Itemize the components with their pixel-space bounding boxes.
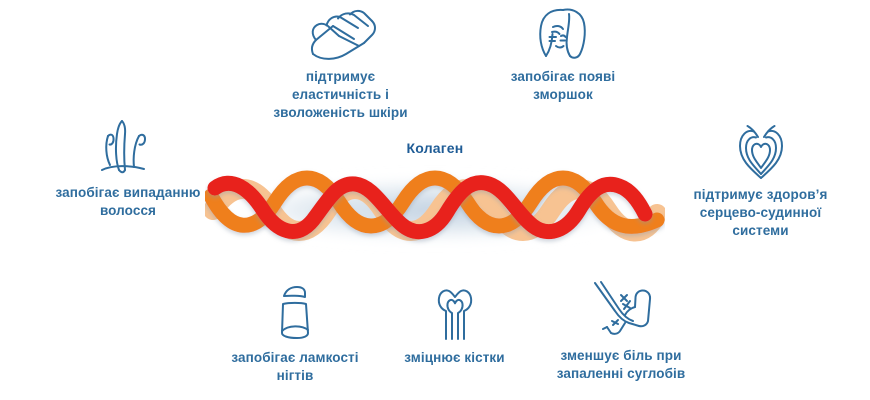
benefit-heart-caption: підтримує здоров’я серцево-судинної сист…	[694, 186, 828, 240]
collagen-title: Колаген	[205, 140, 665, 156]
benefit-nails-caption: запобігає ламкості нігтів	[231, 349, 358, 385]
collagen-benefits-infographic: підтримує еластичність і зволоженість шк…	[0, 0, 870, 400]
fingernail-icon	[264, 283, 326, 343]
benefit-joints-caption: зменшує біль при запаленні суглобів	[557, 347, 686, 383]
benefit-nails: запобігає ламкості нігтів	[205, 283, 385, 385]
benefit-hair-caption: запобігає випаданню волосся	[56, 184, 201, 220]
benefit-heart: підтримує здоров’я серцево-судинної сист…	[658, 118, 863, 240]
collagen-helix-block: Колаген	[205, 140, 665, 255]
collagen-triple-helix-graphic	[205, 162, 665, 254]
benefit-bones-caption: зміцнює кістки	[404, 349, 504, 367]
benefit-skin: підтримує еластичність і зволоженість шк…	[238, 6, 443, 122]
heart-icon	[725, 118, 797, 180]
hair-follicle-icon	[92, 118, 164, 178]
benefit-skin-caption: підтримує еластичність і зволоженість шк…	[273, 68, 407, 122]
benefit-hair: запобігає випаданню волосся	[28, 118, 228, 220]
hand-icon	[302, 6, 380, 62]
bone-icon	[426, 283, 484, 343]
face-wrinkles-icon	[527, 6, 599, 62]
benefit-joints: зменшує біль при запаленні суглобів	[526, 277, 716, 383]
benefit-bones: зміцнює кістки	[382, 283, 527, 367]
benefit-wrinkles: запобігає появі зморшок	[468, 6, 658, 104]
benefit-wrinkles-caption: запобігає появі зморшок	[511, 68, 616, 104]
knee-joint-pain-icon	[581, 277, 661, 341]
